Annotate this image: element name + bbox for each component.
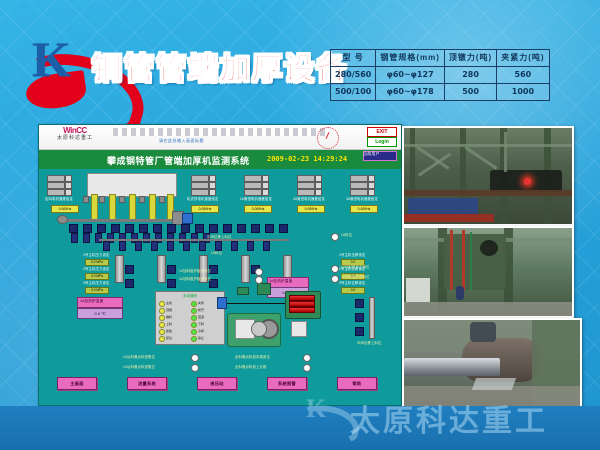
- panel-item[interactable]: 上料: [166, 322, 172, 326]
- frame-bracket: [159, 196, 165, 203]
- heater-position-label: 1#料位: [211, 251, 222, 256]
- furnace-temp-value[interactable]: 0.0 ℃: [77, 308, 123, 319]
- panel-item[interactable]: 顶镦: [166, 308, 172, 312]
- lamp-label-3: 1#加料推护右侧位: [341, 275, 370, 280]
- hmi-screenshot: WinCC 太原科达重工 请在此处输入画面标题 EXIT Login 攀成钢特管…: [38, 124, 402, 406]
- disp-label-1: 1号主机位移设定: [339, 253, 366, 258]
- column-1: [91, 194, 98, 222]
- frame-bracket: [83, 196, 89, 203]
- column-4: [149, 194, 156, 222]
- hmi-timestamp: 2009-02-23 14:29:24: [267, 155, 347, 163]
- clock-icon: [317, 127, 339, 149]
- disp-value-3[interactable]: 0.0: [341, 287, 365, 294]
- hydraulic-cylinder: [241, 255, 250, 283]
- hmi-system-title: 攀成钢特管厂管端加厚机监测系统: [107, 154, 250, 167]
- group-1-value[interactable]: 0.000Hz: [191, 205, 219, 213]
- col-header-pipe-size: 钢管规格(mm): [376, 50, 445, 67]
- nav-button-alarm[interactable]: 系统报警: [267, 377, 307, 390]
- press-label-2: 2号主机压力设定: [83, 267, 110, 272]
- col-header-upset-force: 顶镦力(吨): [444, 50, 496, 67]
- nav-button-main[interactable]: 主画面: [57, 377, 97, 390]
- slide-page: K 钢管管端加厚设备 型 号 钢管规格(mm) 顶镦力(吨) 夹紧力(吨) 28…: [0, 0, 600, 450]
- unit-field: [65, 189, 72, 196]
- hmi-mimic-area: 出料电机速度给定 0.000Hz 轧式挤电机速度给定 0.000Hz 1#管进电…: [39, 169, 401, 406]
- drive-motor: [182, 213, 193, 224]
- group-3-value[interactable]: 0.000Hz: [297, 205, 325, 213]
- nav-button-flow[interactable]: 流量系统: [127, 377, 167, 390]
- frame-bracket: [139, 196, 145, 203]
- panel-item[interactable]: 回退: [198, 315, 204, 319]
- hydraulic-station-photo: [402, 226, 574, 318]
- wincc-logo-text: WinCC: [44, 126, 106, 135]
- frame-bracket: [119, 196, 125, 203]
- spec-table: 型 号 钢管规格(mm) 顶镦力(吨) 夹紧力(吨) 280/560 φ60~φ…: [330, 49, 550, 101]
- logo-letter: K: [32, 34, 67, 84]
- furnace-temp-label-2: 1#加热炉温度: [269, 279, 292, 284]
- press-label-3: 3号主机压力设定: [83, 281, 110, 286]
- center-position-label: 中间位移上料位: [207, 235, 231, 240]
- hydraulic-cylinder: [157, 255, 166, 283]
- cell-pipe-size: φ60~φ178: [376, 84, 445, 101]
- value-field: [47, 182, 65, 189]
- unit-field: [65, 175, 72, 182]
- nav-button-help[interactable]: 帮助: [337, 377, 377, 390]
- hydraulic-cylinder: [115, 255, 124, 283]
- roller-end: [57, 215, 68, 224]
- value-field: [47, 189, 65, 196]
- group-2-value[interactable]: 0.000Hz: [244, 205, 272, 213]
- wincc-company-text: 太原科达重工: [44, 135, 106, 142]
- column-2: [109, 194, 116, 222]
- group-4-value[interactable]: 0.000Hz: [350, 205, 378, 213]
- column-3: [129, 194, 136, 222]
- press-label-1: 1号主机压力设定: [83, 253, 110, 258]
- conveyor-rail-2: [99, 239, 289, 241]
- panel-item[interactable]: 主机: [166, 301, 172, 305]
- unit-field: [65, 182, 72, 189]
- value-field: [47, 175, 65, 182]
- group-2-label: 1#管进电机速度给定: [240, 197, 272, 202]
- cell-upset-force: 280: [444, 67, 496, 84]
- exit-button[interactable]: EXIT: [367, 127, 397, 137]
- table-row: 280/560 φ60~φ127 280 560: [331, 67, 550, 84]
- panel-item[interactable]: 夹紧: [198, 301, 204, 305]
- cell-model: 500/100: [331, 84, 376, 101]
- rack-label: 中间位移上料位: [357, 341, 381, 346]
- hmi-title-bar: 攀成钢特管厂管端加厚机监测系统 2009-02-23 14:29:24 当前用户: [39, 150, 401, 169]
- press-value-2[interactable]: 0.0 MPa: [85, 273, 109, 280]
- col-header-clamp-force: 夹紧力(吨): [497, 50, 549, 67]
- toolbar-icon-strip[interactable]: [113, 128, 328, 136]
- rolling-line-photo: [402, 126, 574, 226]
- table-header-row: 型 号 钢管规格(mm) 顶镦力(吨) 夹紧力(吨): [331, 50, 550, 67]
- disp-label-3: 3号主机位移设定: [339, 281, 366, 286]
- panel-title: 手动操作: [156, 293, 224, 299]
- press-value-1[interactable]: 0.0 MPa: [85, 259, 109, 266]
- frame-bracket: [99, 196, 105, 203]
- status-label-3: 出料爆点料道末端到位: [235, 355, 270, 360]
- furnace-temp-label: 1#加热炉温度: [80, 299, 103, 304]
- cell-pipe-size: φ60~φ127: [376, 67, 445, 84]
- status-label-2: 1#后料爆点料道限位: [123, 365, 155, 370]
- status-label-4: 出料爆点料道上计数: [235, 365, 266, 370]
- footer-watermark-text: 太原科达重工: [350, 396, 548, 440]
- conveyor-rail: [67, 219, 187, 222]
- login-button[interactable]: Login: [367, 137, 397, 147]
- cell-model: 280/560: [331, 67, 376, 84]
- valve-label-1: 1#加料推护板退到位: [179, 269, 211, 274]
- current-user-box: 当前用户: [363, 151, 397, 161]
- lamp-label-2: 1#加料推护左侧位: [341, 265, 370, 270]
- toolbar-subtitle: 请在此处输入画面标题: [159, 138, 204, 144]
- lamp-label-1: 1#料位: [341, 233, 352, 238]
- panel-item[interactable]: 复位: [166, 336, 172, 340]
- cell-clamp-force: 560: [497, 67, 549, 84]
- group-4-label: 3#管进电机速度给定: [346, 197, 378, 202]
- company-logo: K: [24, 30, 102, 102]
- col-header-model: 型 号: [331, 50, 376, 67]
- panel-item[interactable]: 松开: [198, 308, 204, 312]
- panel-item[interactable]: 推料: [166, 315, 172, 319]
- press-value-3[interactable]: 0.0 MPa: [85, 287, 109, 294]
- cell-upset-force: 500: [444, 84, 496, 101]
- current-user-label: 当前用户: [363, 151, 380, 157]
- watermark-letter: K: [306, 394, 326, 424]
- footer-watermark-logo: K: [300, 392, 344, 432]
- nav-button-hydraulic[interactable]: 液压站: [197, 377, 237, 390]
- page-title: 钢管管端加厚设备: [92, 44, 348, 88]
- status-label-1: 1#后料爆点料道限位: [123, 355, 155, 360]
- valve-label-2: 1#加料推护板进到位: [179, 277, 211, 282]
- group-1-label: 轧式挤电机速度给定: [187, 197, 218, 202]
- hmi-toolbar: WinCC 太原科达重工 请在此处输入画面标题 EXIT Login: [39, 125, 401, 150]
- feed-group-label: 出料电机速度给定: [45, 197, 73, 202]
- table-row: 500/100 φ60~φ178 500 1000: [331, 84, 550, 101]
- panel-item[interactable]: 下料: [198, 322, 204, 326]
- feed-speed-value[interactable]: 0.000Hz: [51, 205, 79, 213]
- panel-item[interactable]: 冷却: [198, 329, 204, 333]
- panel-item[interactable]: 停止: [198, 336, 204, 340]
- upset-pipe-closeup-photo: [402, 318, 582, 408]
- panel-item[interactable]: 加热: [166, 329, 172, 333]
- wincc-logo: WinCC 太原科达重工: [44, 126, 106, 142]
- cell-clamp-force: 1000: [497, 84, 549, 101]
- group-3-label: 2#管进电机速度给定: [293, 197, 325, 202]
